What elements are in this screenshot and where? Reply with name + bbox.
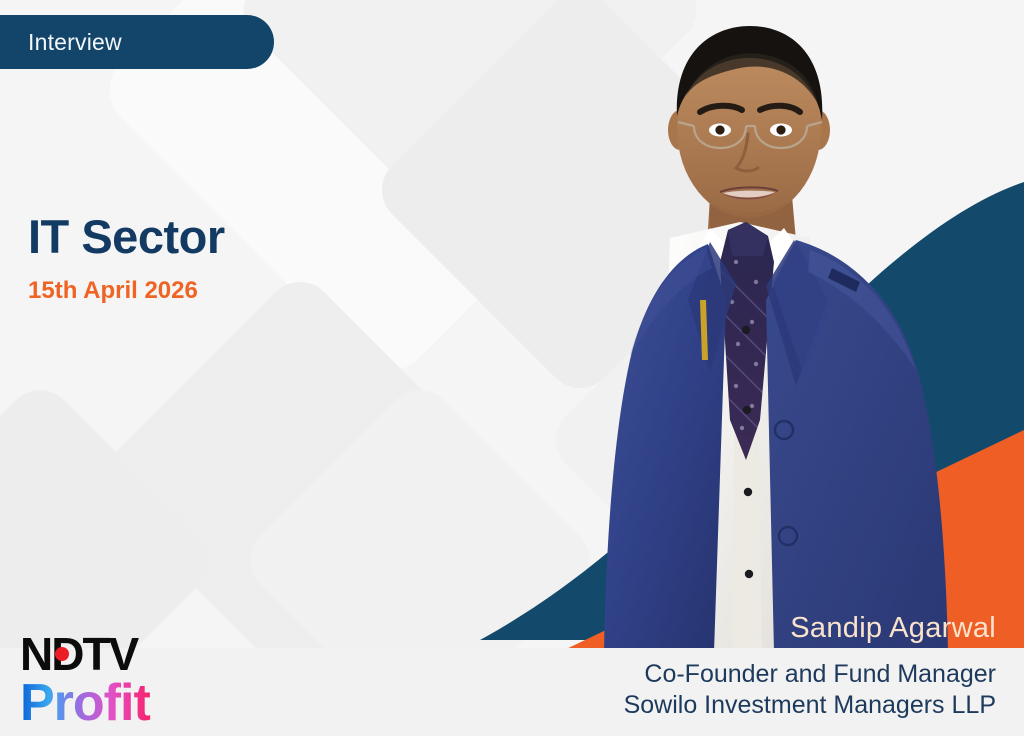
ndtv-red-dot: [55, 647, 69, 661]
speaker-role: Co-Founder and Fund Manager: [624, 659, 996, 690]
speaker-photo: [560, 0, 980, 652]
profit-wordmark: Profit: [20, 674, 150, 728]
speaker-credentials: Co-Founder and Fund Manager Sowilo Inves…: [624, 659, 996, 720]
speaker-name: Sandip Agarwal: [790, 612, 996, 645]
interview-badge: Interview: [0, 15, 274, 69]
page-title: IT Sector: [28, 212, 225, 261]
headline-date: 15th April 2026: [28, 277, 225, 305]
speaker-organisation: Sowilo Investment Managers LLP: [624, 690, 996, 721]
interview-promo-card: Interview IT Sector 15th April 2026 Sand…: [0, 0, 1024, 736]
interview-badge-label: Interview: [28, 29, 122, 56]
headline-block: IT Sector 15th April 2026: [28, 212, 225, 305]
ndtv-profit-logo: NDTV Profit: [20, 632, 210, 728]
ndtv-wordmark: NDTV: [20, 632, 140, 680]
